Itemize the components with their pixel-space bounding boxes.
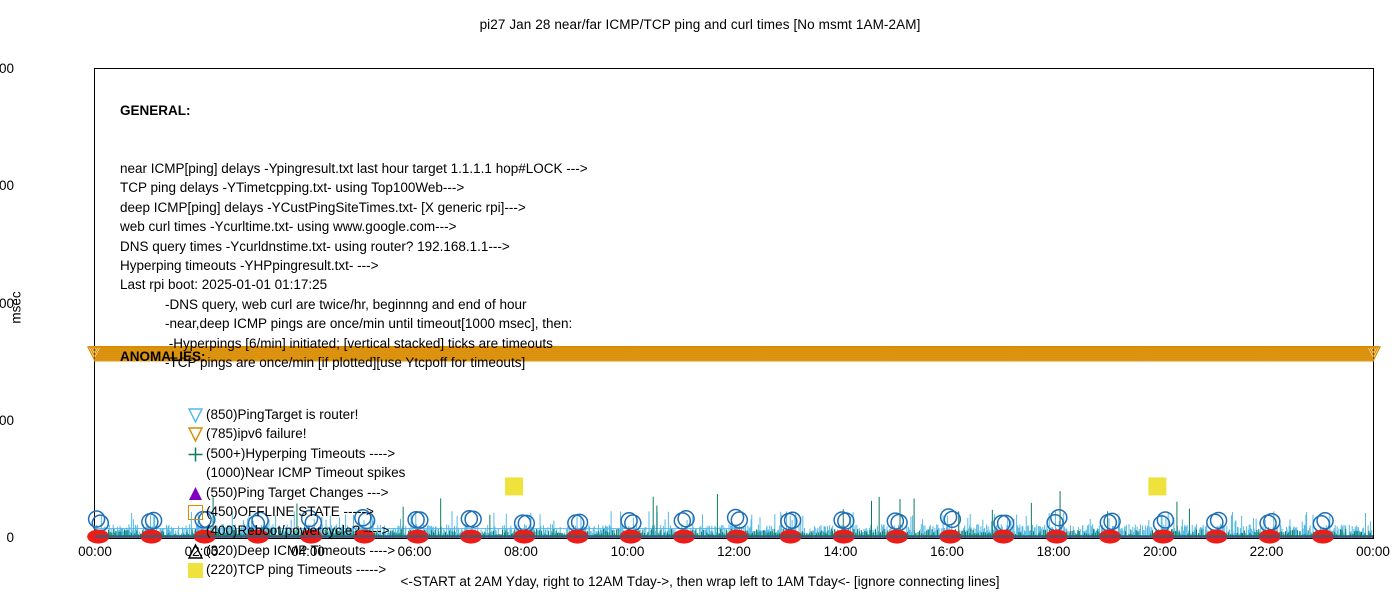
anomaly-label: (320)Deep ICMP Timeouts ----> <box>206 541 395 560</box>
x-tick-label: 22:00 <box>1227 544 1307 559</box>
anomaly-label: (500+)Hyperping Timeouts ----> <box>206 444 395 463</box>
anomaly-label: (1000)Near ICMP Timeout spikes <box>206 463 405 482</box>
anomaly-open-triangle-down-icon <box>188 408 203 423</box>
anomaly-open-square-icon <box>188 505 203 520</box>
anomaly-open-triangle-down-icon <box>188 427 203 442</box>
general-line: deep ICMP[ping] delays -YCustPingSiteTim… <box>120 198 588 217</box>
x-tick-label: 12:00 <box>694 544 774 559</box>
anomaly-label: (850)PingTarget is router! <box>206 405 358 424</box>
x-tick-label: 20:00 <box>1120 544 1200 559</box>
anomaly-open-triangle-up-icon <box>188 544 203 559</box>
anomaly-row: (785)ipv6 failure! <box>120 424 206 443</box>
anomaly-row: (1000)Near ICMP Timeout spikes <box>120 463 206 482</box>
anomalies-notes: ANOMALIES: (850)PingTarget is router!(78… <box>120 308 206 599</box>
y-tick-label: 1500 <box>0 178 14 193</box>
anomaly-row: (550)Ping Target Changes ---> <box>120 483 206 502</box>
anomaly-filled-triangle-up-icon <box>188 486 203 501</box>
anomaly-marker <box>188 425 206 443</box>
anomaly-marker <box>188 464 206 482</box>
anomaly-marker <box>188 522 206 540</box>
anomalies-rows: (850)PingTarget is router!(785)ipv6 fail… <box>120 405 206 580</box>
x-tick-label: 10:00 <box>588 544 668 559</box>
general-heading: GENERAL: <box>120 101 588 120</box>
anomaly-marker <box>188 445 206 463</box>
series-ytcpoff-markers <box>505 477 1166 495</box>
anomaly-label: (785)ipv6 failure! <box>206 424 307 443</box>
anomaly-row: (850)PingTarget is router! <box>120 405 206 424</box>
general-line: near ICMP[ping] delays -Ypingresult.txt … <box>120 159 588 178</box>
anomaly-row: (400)Reboot/powercycle? ----> <box>120 521 206 540</box>
general-line: DNS query times -Ycurldnstime.txt- using… <box>120 237 588 256</box>
anomaly-marker <box>188 406 206 424</box>
x-tick-label: 08:00 <box>481 544 561 559</box>
anomaly-label: (220)TCP ping Timeouts -----> <box>206 560 386 579</box>
chart-title: pi27 Jan 28 near/far ICMP/TCP ping and c… <box>0 17 1400 32</box>
anomaly-label: (400)Reboot/powercycle? ----> <box>206 521 389 540</box>
anomaly-marker <box>188 542 206 560</box>
anomaly-marker <box>188 561 206 579</box>
y-tick-label: 0 <box>0 530 14 545</box>
general-line: Hyperping timeouts -YHPpingresult.txt- -… <box>120 256 588 275</box>
y-tick-label: 1000 <box>0 296 14 311</box>
anomaly-filled-square-icon <box>188 563 203 578</box>
anomaly-row: (320)Deep ICMP Timeouts ----> <box>120 541 206 560</box>
anomalies-heading: ANOMALIES: <box>120 347 206 366</box>
anomaly-label: (550)Ping Target Changes ---> <box>206 483 388 502</box>
anomaly-row: (450)OFFLINE STATE -----> <box>120 502 206 521</box>
general-line: web curl times -Ycurltime.txt- using www… <box>120 217 588 236</box>
anomaly-row: (220)TCP ping Timeouts -----> <box>120 560 206 579</box>
anomaly-plus-icon <box>188 447 203 462</box>
anomaly-marker <box>188 484 206 502</box>
y-tick-label: 500 <box>0 413 14 428</box>
anomaly-label: (450)OFFLINE STATE -----> <box>206 502 374 521</box>
anomaly-marker <box>188 503 206 521</box>
x-tick-label: 18:00 <box>1014 544 1094 559</box>
x-tick-label: 00:00 <box>1333 544 1400 559</box>
y-tick-label: 2000 <box>0 61 14 76</box>
general-line: Last rpi boot: 2025-01-01 01:17:25 <box>120 275 588 294</box>
x-tick-label: 16:00 <box>907 544 987 559</box>
x-tick-label: 14:00 <box>801 544 881 559</box>
general-line: TCP ping delays -YTimetcpping.txt- using… <box>120 178 588 197</box>
anomaly-row: (500+)Hyperping Timeouts ----> <box>120 444 206 463</box>
